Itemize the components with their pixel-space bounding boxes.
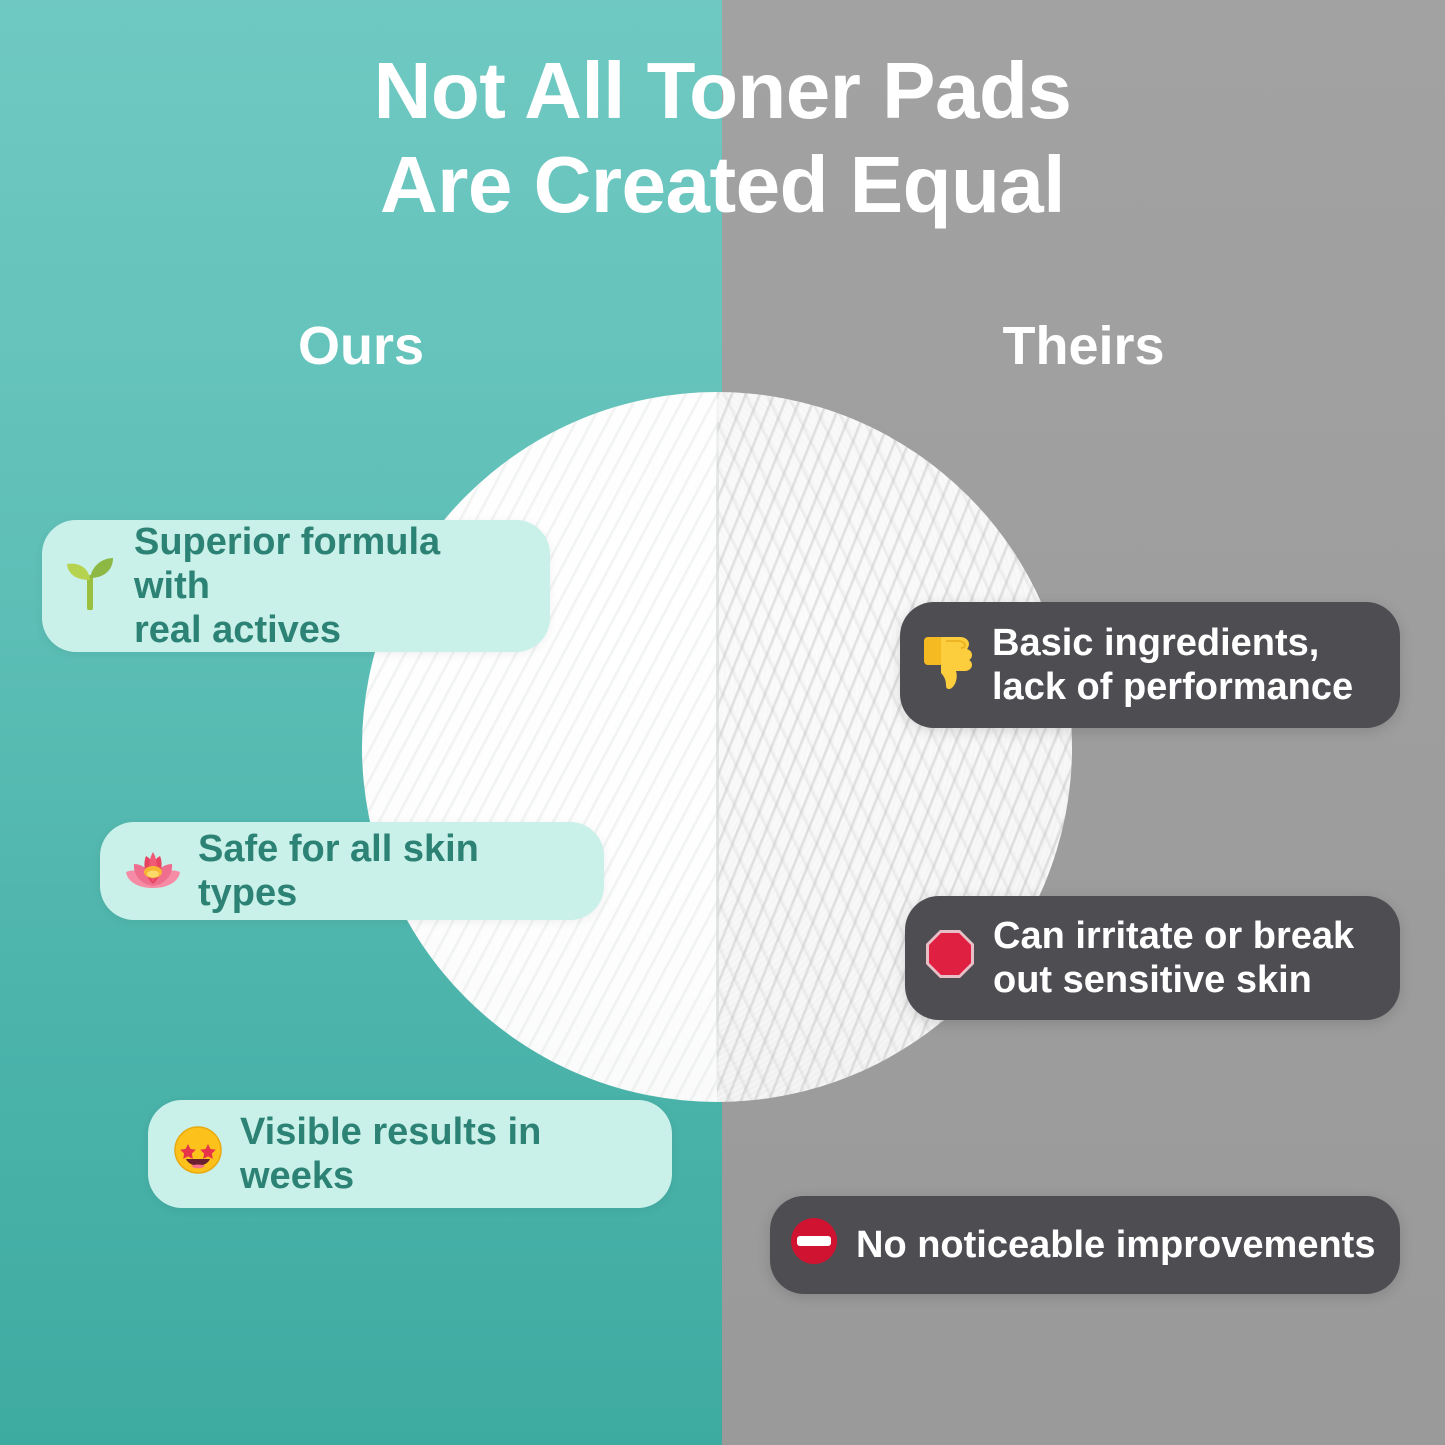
ours-benefit-item-2: Safe for all skin types (100, 822, 604, 920)
column-header-theirs: Theirs (722, 315, 1445, 377)
theirs-drawback-label-1: Basic ingredients, lack of performance (992, 621, 1353, 709)
theirs-drawback-item-1: Basic ingredients, lack of performance (900, 602, 1400, 728)
lotus-icon (126, 844, 180, 898)
column-header-ours: Ours (0, 315, 722, 377)
theirs-drawback-item-2: Can irritate or break out sensitive skin (905, 896, 1400, 1020)
ours-benefit-label-1: Superior formula with real actives (134, 520, 524, 652)
star-struck-icon (174, 1126, 222, 1182)
ours-benefit-item-3: Visible results in weeks (148, 1100, 672, 1208)
ours-benefit-label-2: Safe for all skin types (198, 827, 578, 915)
page-title: Not All Toner Pads Are Created Equal (0, 44, 1445, 233)
cotton-pad-center-seam (716, 392, 719, 1102)
seedling-icon (64, 554, 116, 618)
theirs-drawback-item-3: No noticeable improvements (770, 1196, 1400, 1294)
thumbs-down-icon (922, 633, 974, 697)
stop-sign-icon (925, 929, 975, 987)
theirs-drawback-label-3: No noticeable improvements (856, 1223, 1375, 1267)
comparison-infographic: Not All Toner Pads Are Created Equal Our… (0, 0, 1445, 1445)
ours-benefit-label-3: Visible results in weeks (240, 1110, 646, 1198)
theirs-drawback-label-2: Can irritate or break out sensitive skin (993, 914, 1354, 1002)
ours-benefit-item-1: Superior formula with real actives (42, 520, 550, 652)
no-entry-icon (790, 1217, 838, 1273)
